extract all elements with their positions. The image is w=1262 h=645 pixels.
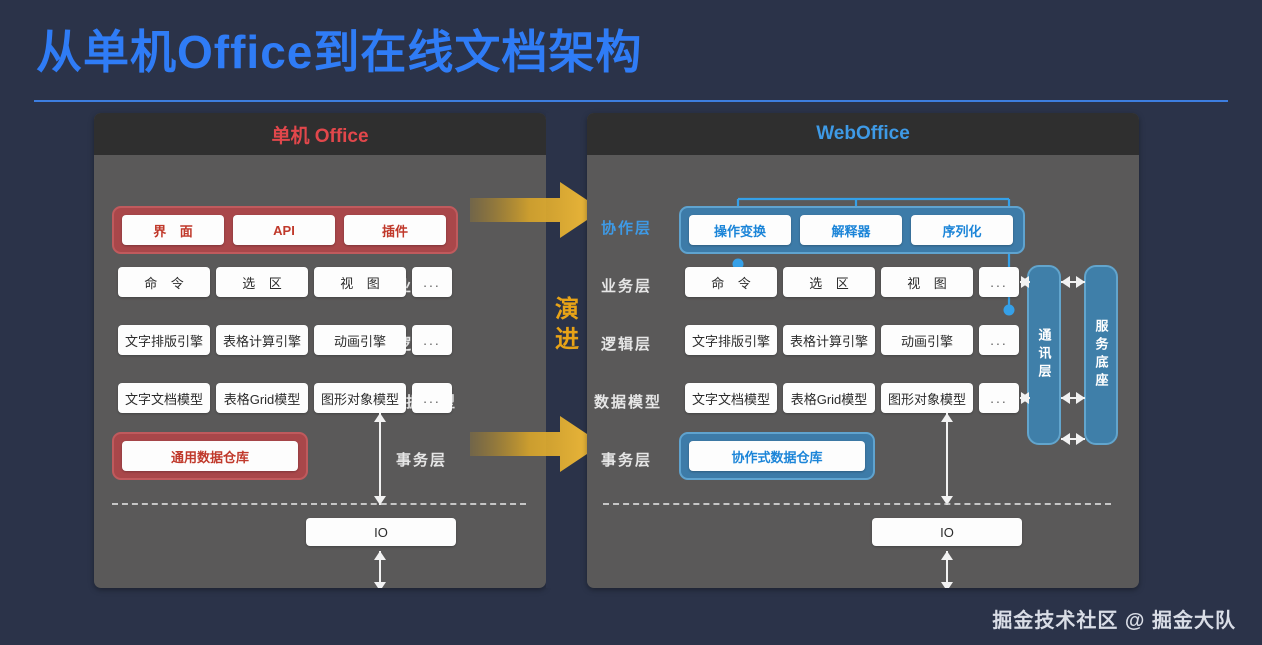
box-shape-model[interactable]: 图形对象模型 [314,383,406,413]
panel-weboffice: WebOffice [587,113,1139,588]
box-selection-r[interactable]: 选 区 [783,267,875,297]
box-view[interactable]: 视 图 [314,267,406,297]
box-shape-model-r[interactable]: 图形对象模型 [881,383,973,413]
arrow-io-file [374,551,386,588]
panel-right-body: 协作层 业务层 逻辑层 数据模型 事务层 操作变换 解释器 序列化 命 令 选 … [587,155,1139,588]
box-command[interactable]: 命 令 [118,267,210,297]
layer-label-datamodel-r: 数据模型 [594,391,662,412]
panel-right-title: WebOffice [816,123,910,145]
arrow-io-file-r [941,551,953,588]
panel-right-header: WebOffice [587,113,1139,155]
io-boundary-divider-r [603,503,1111,505]
box-plugin[interactable]: 插件 [344,215,446,245]
evolution-arrow-top [468,178,604,242]
box-text-doc-model[interactable]: 文字文档模型 [118,383,210,413]
box-business-more[interactable]: ... [412,267,452,297]
layer-label-business-r: 业务层 [601,275,652,296]
evolution-arrow-bottom [468,412,604,476]
arrow-datamodel-io-r [941,413,953,505]
box-selection[interactable]: 选 区 [216,267,308,297]
column-service-platform[interactable]: 服务底座 [1084,265,1118,445]
box-text-layout-engine[interactable]: 文字排版引擎 [118,325,210,355]
watermark: 掘金技术社区 @ 掘金大队 [992,604,1236,633]
layer-label-transaction: 事务层 [396,449,447,470]
arrow-biz-to-comm [1020,276,1030,288]
layer-label-logic-r: 逻辑层 [601,333,652,354]
box-business-more-r[interactable]: ... [979,267,1019,297]
box-grid-model[interactable]: 表格Grid模型 [216,383,308,413]
box-datamodel-more-r[interactable]: ... [979,383,1019,413]
page-title: 从单机Office到在线文档架构 [36,16,642,82]
panel-left-header: 单机 Office [94,113,546,155]
box-animation-engine-r[interactable]: 动画引擎 [881,325,973,355]
box-animation-engine[interactable]: 动画引擎 [314,325,406,355]
column-communication-layer[interactable]: 通讯层 [1027,265,1061,445]
box-datamodel-more[interactable]: ... [412,383,452,413]
box-api[interactable]: API [233,215,335,245]
box-grid-model-r[interactable]: 表格Grid模型 [783,383,875,413]
io-boundary-divider [112,503,526,505]
box-logic-more-r[interactable]: ... [979,325,1019,355]
box-text-layout-engine-r[interactable]: 文字排版引擎 [685,325,777,355]
box-logic-more[interactable]: ... [412,325,452,355]
box-collaborative-data-warehouse[interactable]: 协作式数据仓库 [689,441,865,471]
arrow-comm-to-service [1061,276,1085,288]
box-text-doc-model-r[interactable]: 文字文档模型 [685,383,777,413]
slide-canvas: 从单机Office到在线文档架构 单机 Office 交互层 业务层 逻辑层 数… [0,0,1262,645]
box-view-r[interactable]: 视 图 [881,267,973,297]
arrow-datamodel-to-comm [1020,392,1030,404]
box-command-r[interactable]: 命 令 [685,267,777,297]
arrow-comm-to-service-3 [1061,433,1085,445]
box-spreadsheet-engine-r[interactable]: 表格计算引擎 [783,325,875,355]
layer-label-transaction-r: 事务层 [601,449,652,470]
arrow-datamodel-io [374,413,386,505]
title-divider [34,100,1228,102]
box-general-data-warehouse[interactable]: 通用数据仓库 [122,441,298,471]
panel-left-title: 单机 Office [271,121,368,148]
box-interpreter[interactable]: 解释器 [800,215,902,245]
box-interface[interactable]: 界 面 [122,215,224,245]
box-io-r[interactable]: IO [872,518,1022,546]
arrow-comm-to-service-2 [1061,392,1085,404]
box-io[interactable]: IO [306,518,456,546]
evolution-label: 演进 [551,295,583,355]
box-spreadsheet-engine[interactable]: 表格计算引擎 [216,325,308,355]
box-operational-transform[interactable]: 操作变换 [689,215,791,245]
layer-label-collaboration: 协作层 [601,217,652,238]
box-serialization[interactable]: 序列化 [911,215,1013,245]
